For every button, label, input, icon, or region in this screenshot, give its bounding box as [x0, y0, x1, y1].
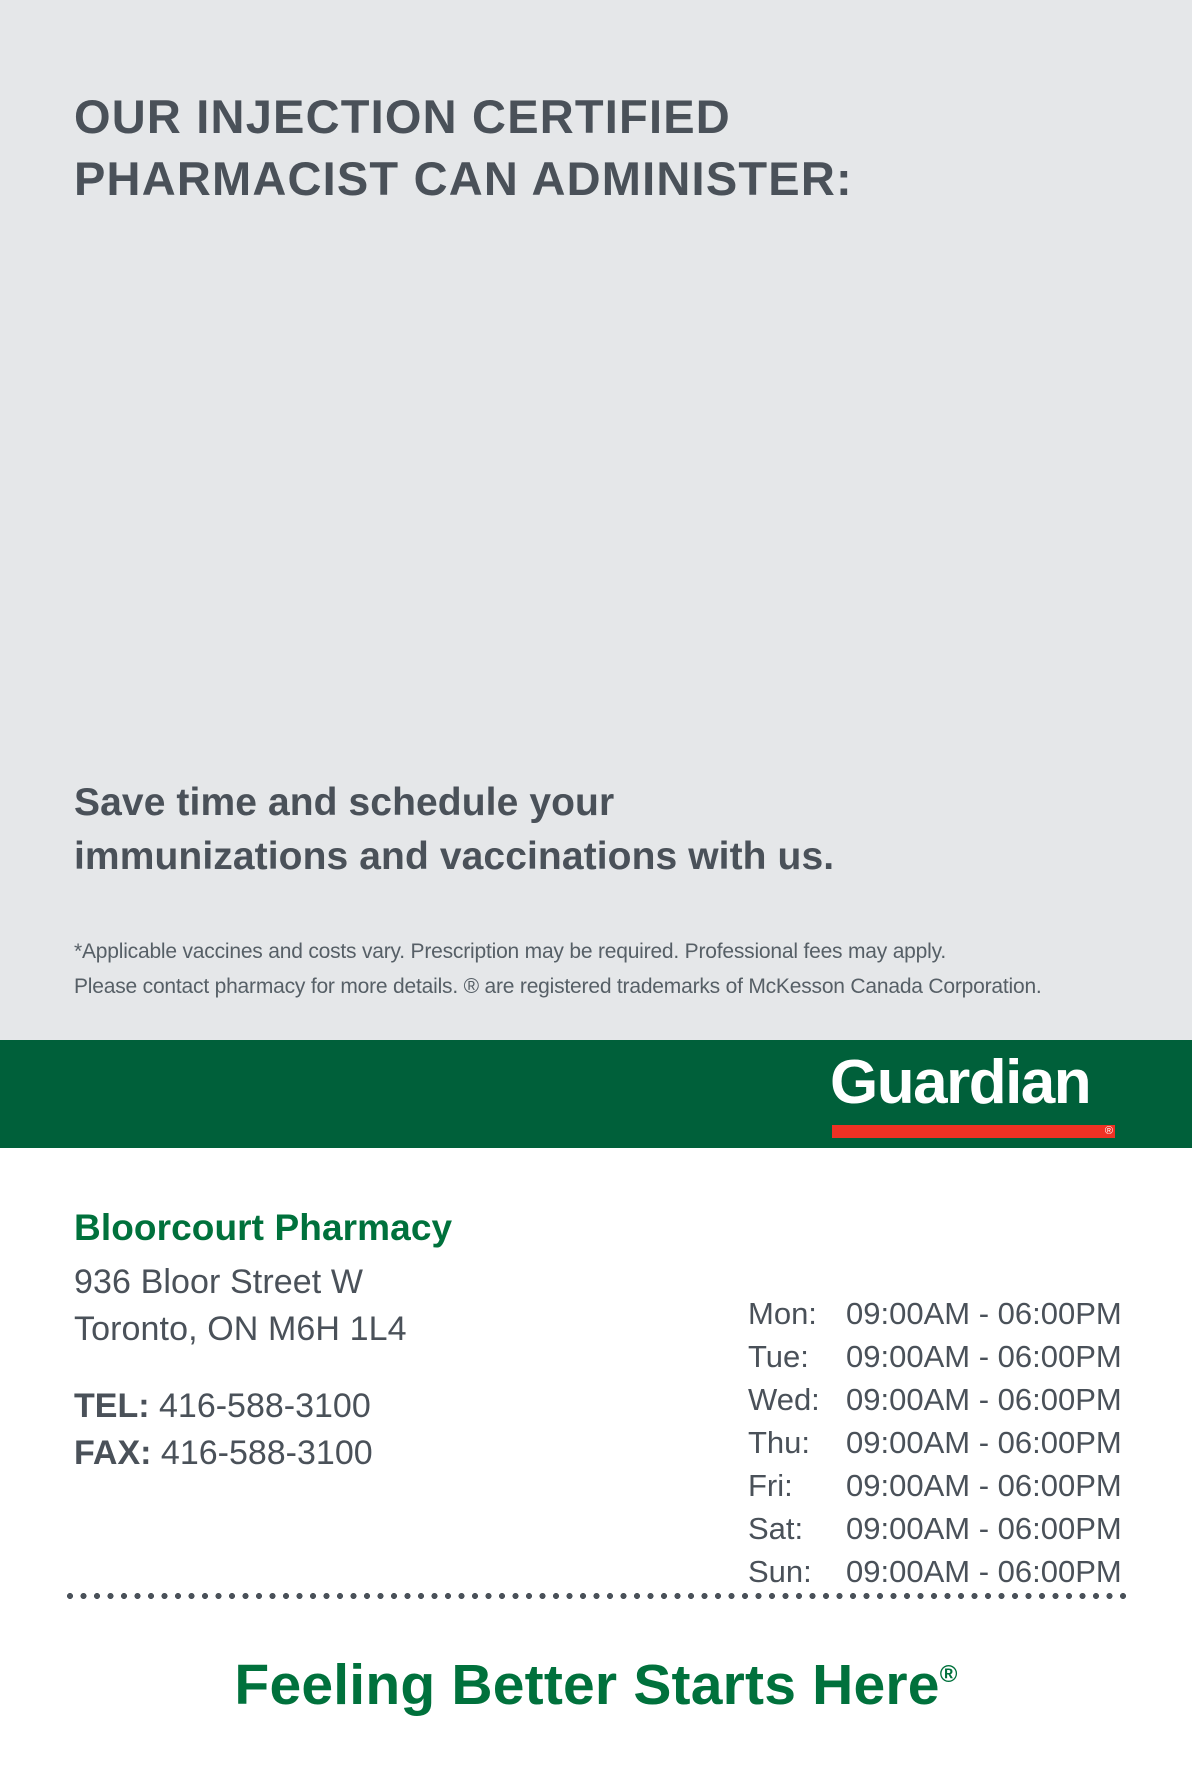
- registered-trademark-icon: ®: [1105, 1126, 1113, 1137]
- subheading: Save time and schedule your immunization…: [74, 776, 934, 884]
- headline-line-1: OUR INJECTION CERTIFIED: [74, 86, 974, 148]
- disclaimer-line-2: Please contact pharmacy for more details…: [74, 969, 1134, 1004]
- hours-day-label: Fri:: [748, 1464, 846, 1507]
- hours-row: Sun: 09:00AM - 06:00PM: [748, 1550, 1128, 1593]
- tagline-text: Feeling Better Starts Here: [234, 1653, 939, 1717]
- address-line-2: Toronto, ON M6H 1L4: [74, 1306, 634, 1353]
- hours-time-value: 09:00AM - 06:00PM: [846, 1292, 1128, 1335]
- subheading-line-2: immunizations and vaccinations with us.: [74, 830, 934, 884]
- tagline-registered-icon: ®: [940, 1661, 958, 1688]
- fax-label: FAX:: [74, 1434, 151, 1472]
- hours-row: Sat: 09:00AM - 06:00PM: [748, 1507, 1128, 1550]
- store-address: 936 Bloor Street W Toronto, ON M6H 1L4: [74, 1259, 634, 1353]
- telephone-number[interactable]: 416-588-3100: [159, 1387, 371, 1425]
- hours-row: Thu: 09:00AM - 06:00PM: [748, 1421, 1128, 1464]
- hours-day-label: Tue:: [748, 1335, 846, 1378]
- telephone-row: TEL: 416-588-3100: [74, 1383, 634, 1430]
- page-title: OUR INJECTION CERTIFIED PHARMACIST CAN A…: [74, 86, 974, 210]
- store-contact: TEL: 416-588-3100 FAX: 416-588-3100: [74, 1383, 634, 1477]
- fax-row: FAX: 416-588-3100: [74, 1430, 634, 1477]
- subheading-line-1: Save time and schedule your: [74, 776, 934, 830]
- brand-tagline: Feeling Better Starts Here®: [0, 1636, 1192, 1724]
- hours-day-label: Thu:: [748, 1421, 846, 1464]
- hours-time-value: 09:00AM - 06:00PM: [846, 1550, 1128, 1593]
- store-hours-table: Mon: 09:00AM - 06:00PM Tue: 09:00AM - 06…: [748, 1292, 1128, 1593]
- hours-time-value: 09:00AM - 06:00PM: [846, 1507, 1128, 1550]
- hours-row: Wed: 09:00AM - 06:00PM: [748, 1378, 1128, 1421]
- guardian-wordmark: Guardian: [830, 1046, 1115, 1120]
- hours-row: Tue: 09:00AM - 06:00PM: [748, 1335, 1128, 1378]
- store-name: Bloorcourt Pharmacy: [74, 1203, 634, 1253]
- promo-panel: OUR INJECTION CERTIFIED PHARMACIST CAN A…: [0, 0, 1192, 1040]
- hours-time-value: 09:00AM - 06:00PM: [846, 1378, 1128, 1421]
- hours-time-value: 09:00AM - 06:00PM: [846, 1464, 1128, 1507]
- address-line-1: 936 Bloor Street W: [74, 1259, 634, 1306]
- hours-day-label: Sun:: [748, 1550, 846, 1593]
- hours-time-value: 09:00AM - 06:00PM: [846, 1335, 1128, 1378]
- hours-day-label: Sat:: [748, 1507, 846, 1550]
- hours-day-label: Wed:: [748, 1378, 846, 1421]
- fax-number: 416-588-3100: [161, 1434, 373, 1472]
- dotted-divider: [66, 1592, 1126, 1600]
- disclaimer-line-1: *Applicable vaccines and costs vary. Pre…: [74, 934, 1134, 969]
- guardian-red-rule: [832, 1125, 1115, 1138]
- hours-time-value: 09:00AM - 06:00PM: [846, 1421, 1128, 1464]
- hours-day-label: Mon:: [748, 1292, 846, 1335]
- hours-row: Mon: 09:00AM - 06:00PM: [748, 1292, 1128, 1335]
- headline-line-2: PHARMACIST CAN ADMINISTER:: [74, 148, 974, 210]
- hours-row: Fri: 09:00AM - 06:00PM: [748, 1464, 1128, 1507]
- guardian-logo: Guardian ®: [830, 1048, 1115, 1140]
- pharmacy-poster: OUR INJECTION CERTIFIED PHARMACIST CAN A…: [0, 0, 1192, 1785]
- telephone-label: TEL:: [74, 1387, 150, 1425]
- store-details: Bloorcourt Pharmacy 936 Bloor Street W T…: [74, 1203, 634, 1477]
- disclaimer-text: *Applicable vaccines and costs vary. Pre…: [74, 934, 1134, 1004]
